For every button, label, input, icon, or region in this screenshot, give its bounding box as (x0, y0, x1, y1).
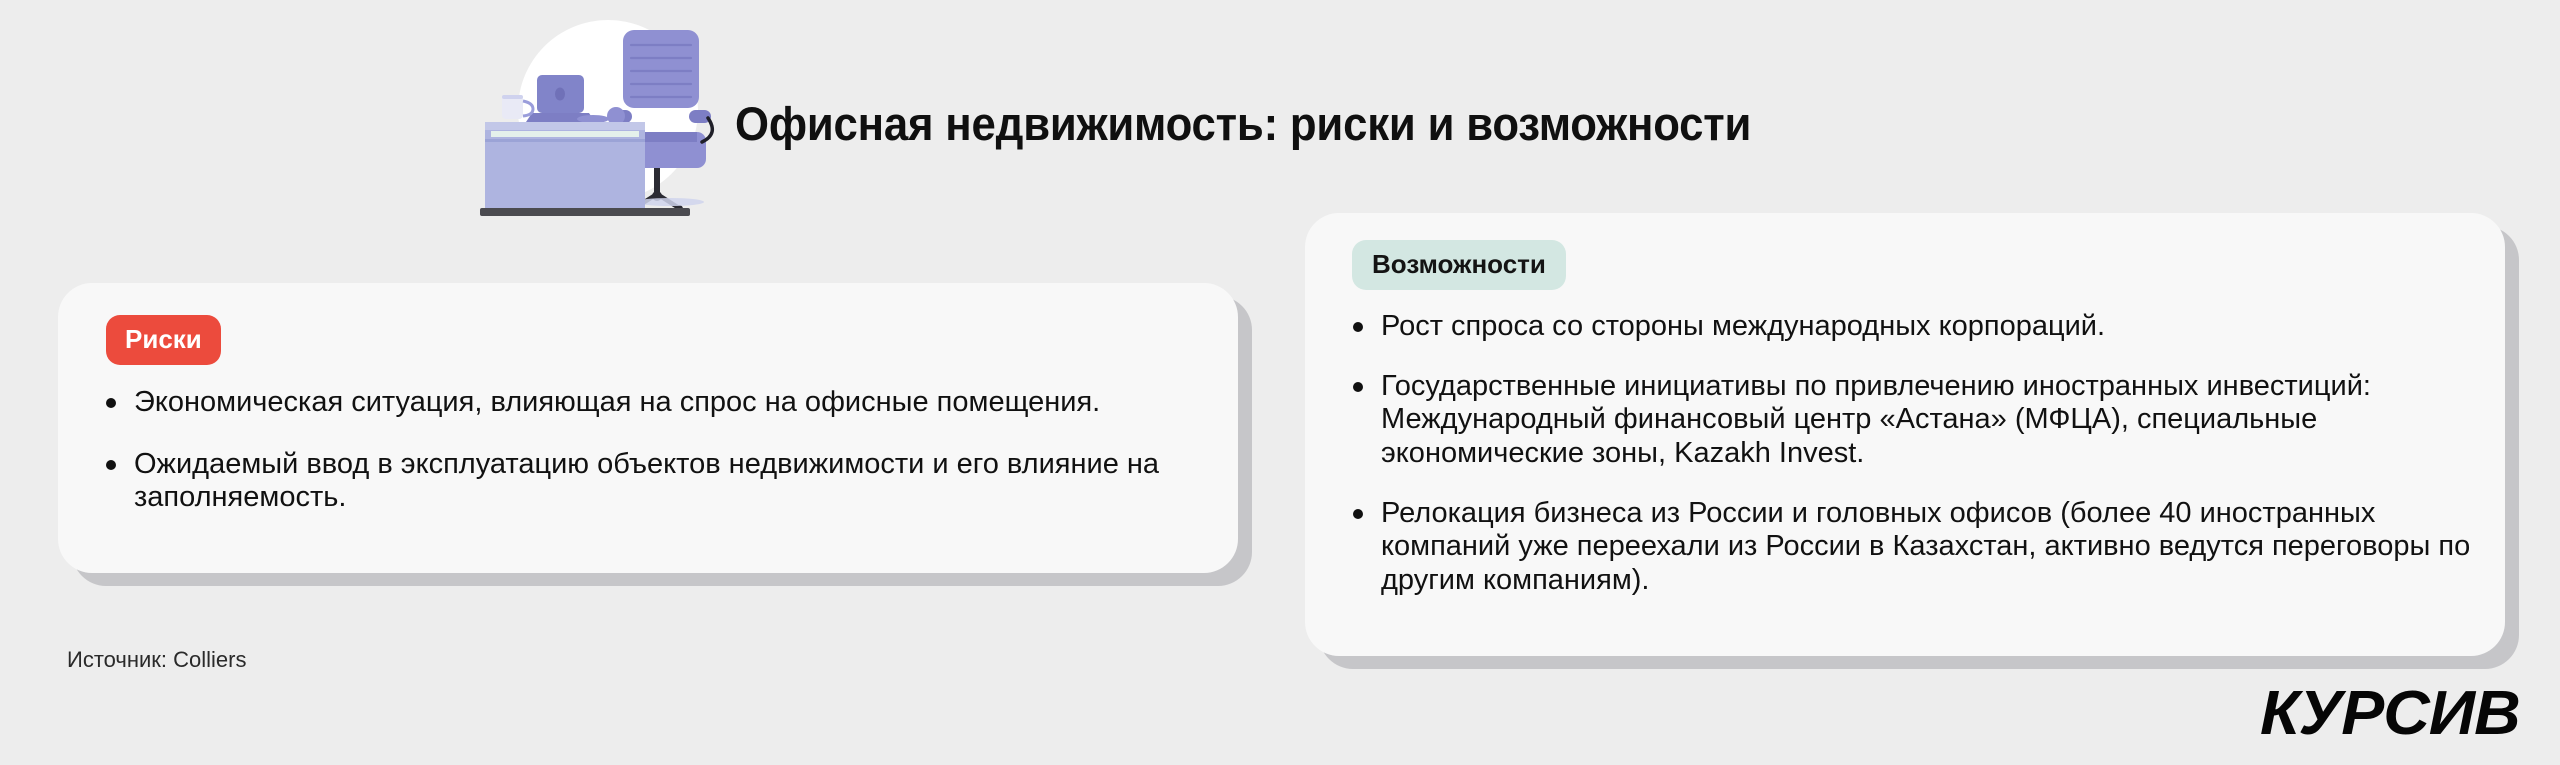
list-item-text: Государственные инициативы по привлечени… (1381, 370, 2371, 469)
opportunities-list: Рост спроса со стороны международных кор… (1351, 310, 2471, 623)
list-item-text: Релокация бизнеса из России и головных о… (1381, 497, 2470, 596)
page-title: Офисная недвижимость: риски и возможност… (735, 96, 1751, 151)
list-item: Релокация бизнеса из России и головных о… (1351, 497, 2471, 598)
bullet-dot-icon (1353, 509, 1363, 519)
office-desk-chair-illustration (480, 18, 730, 223)
risks-list: Экономическая ситуация, влияющая на спро… (104, 386, 1192, 515)
infographic-canvas: Офисная недвижимость: риски и возможност… (0, 0, 2560, 765)
status-badge-risks: Риски (106, 315, 221, 365)
list-item: Государственные инициативы по привлечени… (1351, 370, 2471, 471)
bullet-dot-icon (1353, 382, 1363, 392)
bullet-dot-icon (1353, 322, 1363, 332)
list-item: Ожидаемый ввод в эксплуатацию объектов н… (104, 448, 1192, 515)
bullet-dot-icon (106, 460, 116, 470)
opportunities-card-surface: Возможности Рост спроса со стороны между… (1305, 213, 2505, 656)
opportunities-card: Возможности Рост спроса со стороны между… (1305, 213, 2505, 656)
kursiv-logo: КУРСИВ (2260, 683, 2520, 745)
list-item: Рост спроса со стороны международных кор… (1351, 310, 2471, 344)
risks-card-surface: Риски Экономическая ситуация, влияющая н… (58, 283, 1238, 573)
header: Офисная недвижимость: риски и возможност… (480, 18, 2180, 223)
status-badge-opportunities: Возможности (1352, 240, 1566, 290)
list-item-text: Экономическая ситуация, влияющая на спро… (134, 386, 1100, 418)
risks-card: Риски Экономическая ситуация, влияющая н… (58, 283, 1238, 573)
list-item-text: Ожидаемый ввод в эксплуатацию объектов н… (134, 448, 1159, 514)
bullet-dot-icon (106, 398, 116, 408)
list-item: Экономическая ситуация, влияющая на спро… (104, 386, 1192, 420)
source-attribution: Источник: Colliers (67, 647, 247, 673)
list-item-text: Рост спроса со стороны международных кор… (1381, 310, 2105, 342)
